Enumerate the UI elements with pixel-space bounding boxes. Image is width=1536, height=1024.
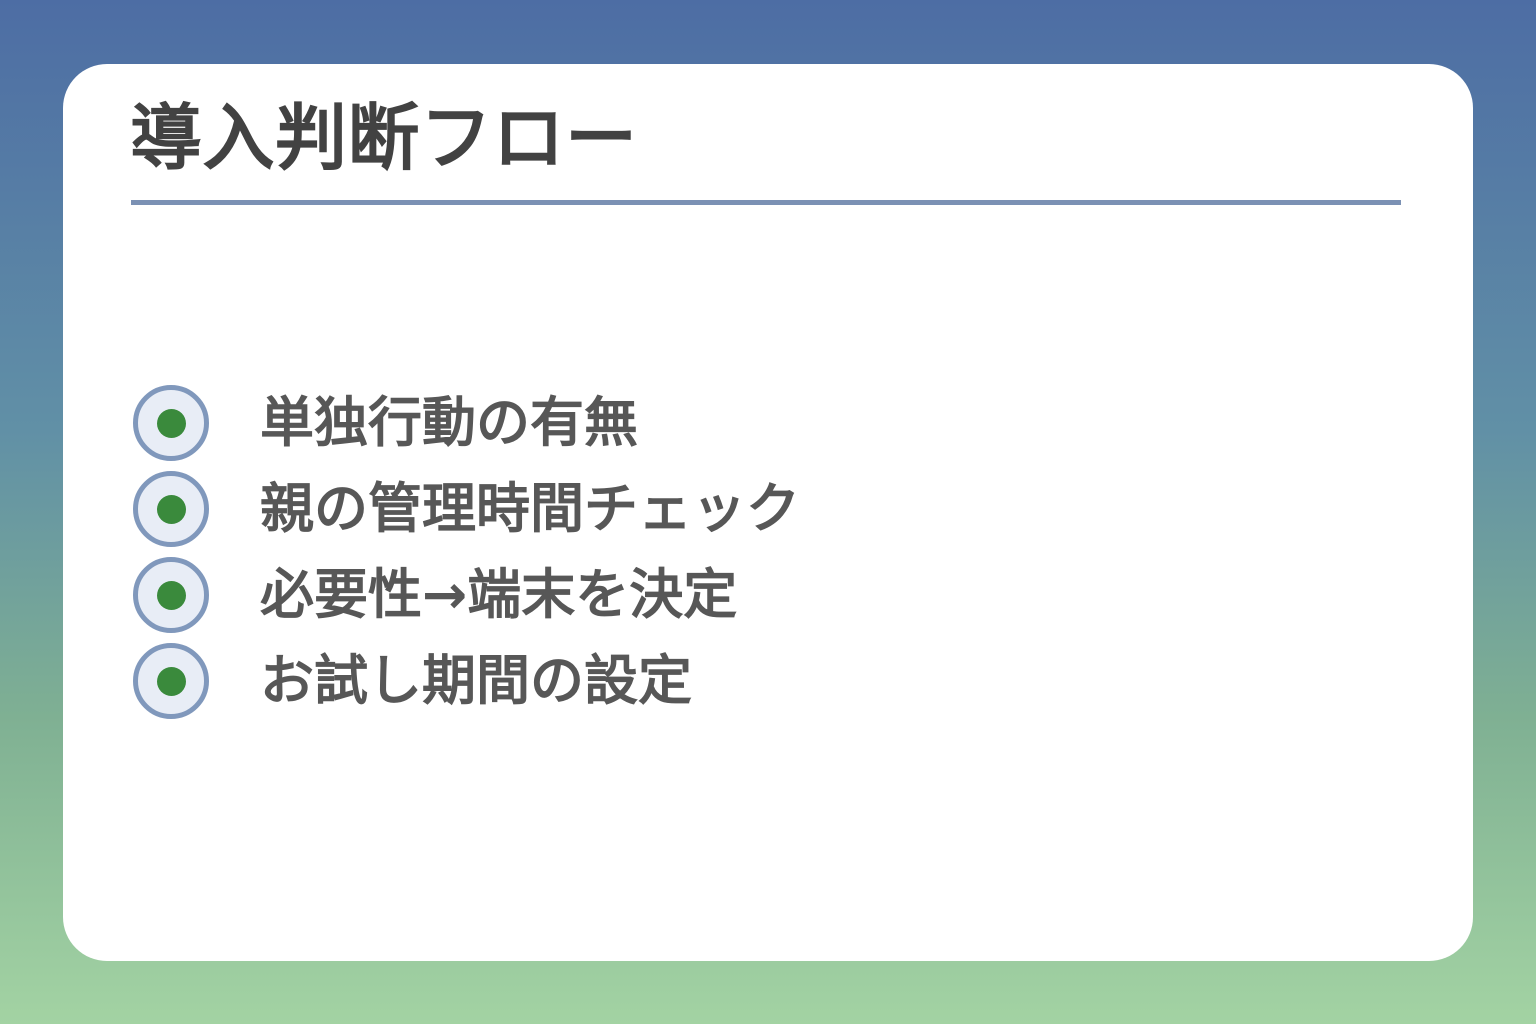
bullet-list: 単独行動の有無 親の管理時間チェック 必要性→端末を決定 お試し期間の設定: [133, 380, 1383, 724]
slide-canvas: 導入判断フロー 単独行動の有無 親の管理時間チェック 必要性→端末を決定: [0, 0, 1536, 1024]
list-item: 必要性→端末を決定: [133, 552, 1383, 638]
filled-circle-bullet-icon: [133, 471, 209, 547]
list-item: お試し期間の設定: [133, 638, 1383, 724]
bullet-inner-dot: [157, 409, 186, 438]
bullet-inner-dot: [157, 667, 186, 696]
title-underline-rule: [131, 200, 1401, 205]
bullet-inner-dot: [157, 495, 186, 524]
slide-content-card: 導入判断フロー 単独行動の有無 親の管理時間チェック 必要性→端末を決定: [63, 64, 1473, 961]
page-title: 導入判断フロー: [130, 98, 638, 179]
list-item-label: 必要性→端末を決定: [260, 568, 737, 622]
filled-circle-bullet-icon: [133, 643, 209, 719]
list-item: 単独行動の有無: [133, 380, 1383, 466]
list-item: 親の管理時間チェック: [133, 466, 1383, 552]
list-item-label: 単独行動の有無: [260, 396, 638, 450]
filled-circle-bullet-icon: [133, 385, 209, 461]
list-item-label: お試し期間の設定: [260, 654, 692, 708]
list-item-label: 親の管理時間チェック: [260, 482, 800, 536]
filled-circle-bullet-icon: [133, 557, 209, 633]
bullet-inner-dot: [157, 581, 186, 610]
